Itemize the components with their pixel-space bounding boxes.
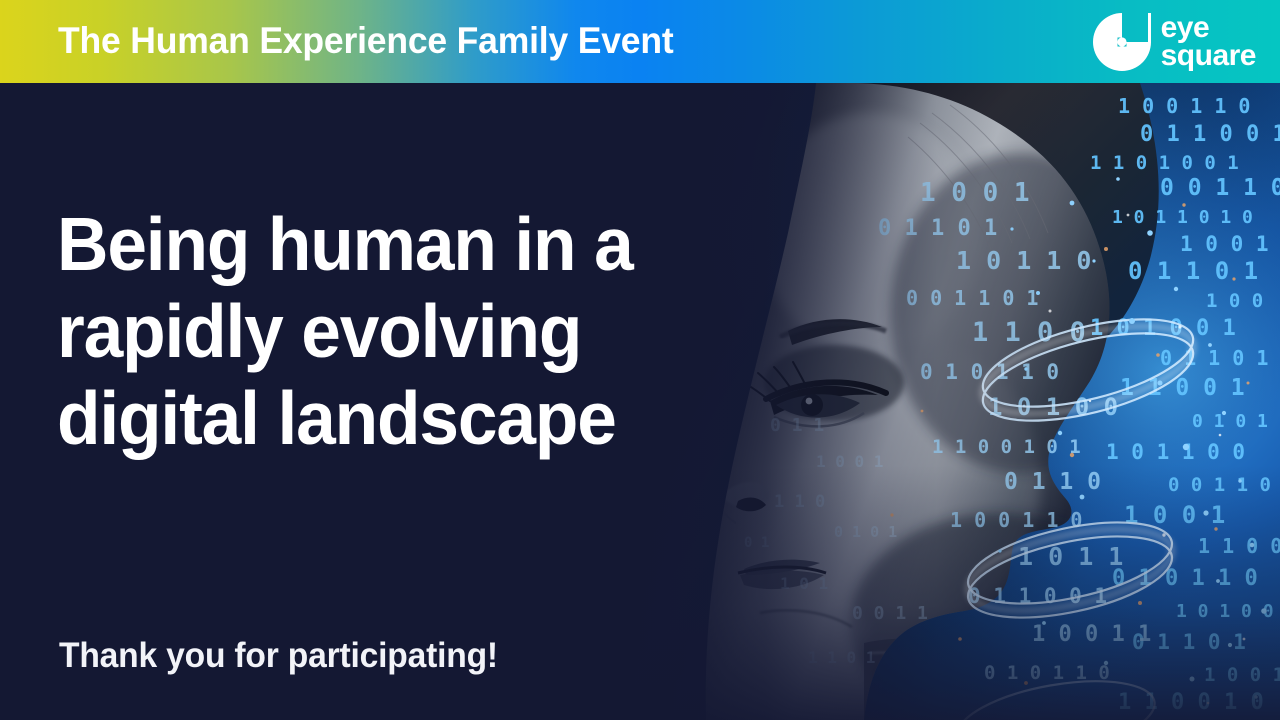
logo-text-square: square <box>1161 42 1256 70</box>
header-bar: The Human Experience Family Event <box>0 0 1280 83</box>
eye-square-logo-mark <box>1093 13 1151 71</box>
eye-square-logo[interactable]: eye square <box>1093 12 1256 72</box>
eye-square-wordmark: eye square <box>1161 14 1256 69</box>
headline-line-2: rapidly evolving <box>57 288 646 375</box>
headline-line-1: Being human in a <box>57 201 646 288</box>
copy-block: Being human in a rapidly evolving digita… <box>57 83 697 720</box>
logo-text-eye: eye <box>1161 14 1256 42</box>
event-title: The Human Experience Family Event <box>58 14 673 68</box>
event-slide: 1 0 0 1 1 0 0 1 1 0 0 1 1 1 0 1 0 0 1 0 … <box>0 0 1280 720</box>
thank-you-message: Thank you for participating! <box>59 636 498 676</box>
page-title: Being human in a rapidly evolving digita… <box>57 201 646 462</box>
headline-line-3: digital landscape <box>57 375 646 462</box>
hero-image-woman-profile-binary: 1 0 0 1 1 0 0 1 1 0 0 1 1 1 0 1 0 0 1 0 … <box>620 83 1280 720</box>
